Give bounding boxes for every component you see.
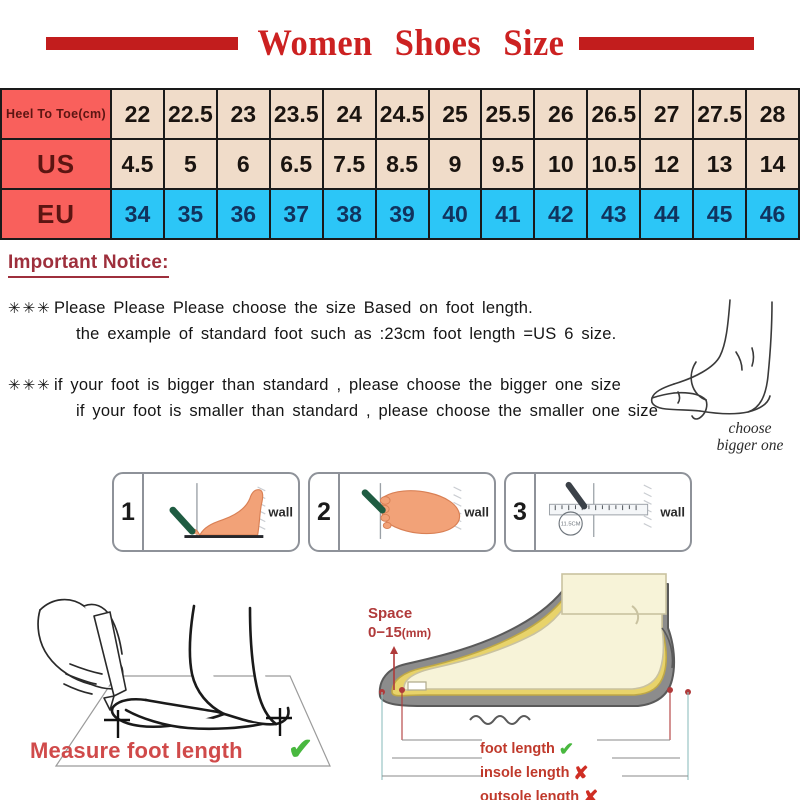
space-annotation: Space 0−15(mm): [368, 604, 431, 642]
cell-cm-5: 24.5: [376, 89, 429, 139]
cell-eu-9: 43: [587, 189, 640, 239]
notice-line-4: ✳✳✳ if your foot is smaller than standar…: [8, 399, 708, 425]
label-insole-length: insole length ✘: [480, 762, 598, 786]
notice-line-4-text: if your foot is smaller than standard , …: [76, 399, 658, 425]
notice-block-2: ✳✳✳ if your foot is bigger than standard…: [8, 373, 708, 424]
page-title-banner: Women Shoes Size: [0, 16, 800, 70]
title-rule-right: [579, 37, 754, 50]
step-2-wall-label: wall: [464, 505, 489, 520]
cell-eu-5: 39: [376, 189, 429, 239]
page-title-word-2: Shoes: [394, 23, 480, 64]
cell-eu-2: 36: [217, 189, 270, 239]
step-3-illustration: 11.5CM wall: [536, 474, 690, 550]
cell-us-5: 8.5: [376, 139, 429, 189]
step-panel-1: 1 wall: [112, 472, 300, 552]
page-title-word-3: Size: [503, 23, 564, 64]
measure-foot-caption: Measure foot length: [30, 738, 243, 764]
label-outsole-length: outsole length ✘: [480, 786, 598, 800]
notice-block-1: ✳✳✳ Please Please Please choose the size…: [8, 296, 708, 347]
cell-cm-4: 24: [323, 89, 376, 139]
step-number-3: 3: [506, 474, 536, 550]
cell-eu-7: 41: [481, 189, 534, 239]
label-foot-length: foot length ✔: [480, 738, 598, 762]
notice-heading: Important Notice:: [8, 252, 169, 278]
cell-us-0: 4.5: [111, 139, 164, 189]
cell-us-3: 6.5: [270, 139, 323, 189]
cell-eu-3: 37: [270, 189, 323, 239]
measurement-steps: 1 wall 2: [112, 472, 692, 552]
cell-eu-10: 44: [640, 189, 693, 239]
space-label-line-1: Space: [368, 604, 431, 623]
cell-eu-4: 38: [323, 189, 376, 239]
cell-us-12: 14: [746, 139, 799, 189]
ruler-badge-text: 11.5CM: [561, 521, 581, 527]
asterisk-bullet-icon-2: ✳✳✳: [8, 373, 54, 397]
title-rule-left: [46, 37, 238, 50]
foot-sketch-caption: choose bigger one: [690, 420, 800, 455]
cell-us-8: 10: [534, 139, 587, 189]
size-table-body: Heel To Toe(cm) 22 22.5 23 23.5 24 24.5 …: [1, 89, 799, 239]
sketch-caption-line-1: choose: [690, 420, 800, 437]
important-notice-section: Important Notice: ✳✳✳ Please Please Plea…: [8, 252, 708, 424]
page-title: Women Shoes Size: [257, 22, 564, 65]
size-chart-page: Women Shoes Size Heel To Toe(cm) 22 22.5…: [0, 0, 800, 800]
asterisk-bullet-icon: ✳✳✳: [8, 296, 54, 320]
shoe-length-labels: foot length ✔ insole length ✘ outsole le…: [480, 738, 598, 800]
cell-us-9: 10.5: [587, 139, 640, 189]
cell-cm-9: 26.5: [587, 89, 640, 139]
notice-line-2-text: the example of standard foot such as :23…: [76, 322, 616, 348]
step-number-2: 2: [310, 474, 340, 550]
outsole-length-cross-icon: ✘: [583, 786, 598, 800]
cell-eu-6: 40: [429, 189, 482, 239]
cell-us-6: 9: [429, 139, 482, 189]
step-3-wall-label: wall: [660, 505, 685, 520]
cell-eu-0: 34: [111, 189, 164, 239]
row-header-eu: EU: [1, 189, 111, 239]
cell-eu-8: 42: [534, 189, 587, 239]
measure-check-icon: ✔: [288, 732, 313, 767]
step-2-illustration: wall: [340, 474, 494, 550]
notice-line-1-text: Please Please Please choose the size Bas…: [54, 296, 533, 322]
step-1-wall-label: wall: [268, 505, 293, 520]
size-conversion-table: Heel To Toe(cm) 22 22.5 23 23.5 24 24.5 …: [0, 88, 800, 240]
foot-length-check-icon: ✔: [559, 738, 574, 762]
notice-line-3: ✳✳✳ if your foot is bigger than standard…: [8, 373, 708, 399]
cell-us-4: 7.5: [323, 139, 376, 189]
cell-eu-1: 35: [164, 189, 217, 239]
table-row-cm: Heel To Toe(cm) 22 22.5 23 23.5 24 24.5 …: [1, 89, 799, 139]
cell-cm-8: 26: [534, 89, 587, 139]
space-label-line-2-wrap: 0−15(mm): [368, 623, 431, 642]
cell-cm-0: 22: [111, 89, 164, 139]
cell-us-10: 12: [640, 139, 693, 189]
cell-us-1: 5: [164, 139, 217, 189]
cell-cm-2: 23: [217, 89, 270, 139]
space-label-line-2: 0−15: [368, 624, 402, 641]
insole-length-cross-icon: ✘: [573, 762, 588, 786]
space-label-unit: (mm): [402, 626, 431, 640]
notice-line-3-text: if your foot is bigger than standard , p…: [54, 373, 621, 399]
cell-cm-10: 27: [640, 89, 693, 139]
table-row-us: US 4.5 5 6 6.5 7.5 8.5 9 9.5 10 10.5 12 …: [1, 139, 799, 189]
cell-eu-11: 45: [693, 189, 746, 239]
page-title-word-1: Women: [257, 23, 372, 64]
step-panel-3: 3: [504, 472, 692, 552]
cell-cm-7: 25.5: [481, 89, 534, 139]
table-row-eu: EU 34 35 36 37 38 39 40 41 42 43 44 45 4…: [1, 189, 799, 239]
cell-cm-3: 23.5: [270, 89, 323, 139]
cell-us-11: 13: [693, 139, 746, 189]
cell-eu-12: 46: [746, 189, 799, 239]
row-header-us: US: [1, 139, 111, 189]
cell-cm-6: 25: [429, 89, 482, 139]
cell-cm-1: 22.5: [164, 89, 217, 139]
cell-us-7: 9.5: [481, 139, 534, 189]
label-insole-length-text: insole length: [480, 764, 569, 783]
step-1-illustration: wall: [144, 474, 298, 550]
cell-cm-12: 28: [746, 89, 799, 139]
step-number-1: 1: [114, 474, 144, 550]
label-outsole-length-text: outsole length: [480, 788, 579, 800]
row-header-heel-to-toe: Heel To Toe(cm): [1, 89, 111, 139]
notice-line-2: ✳✳✳ the example of standard foot such as…: [8, 322, 708, 348]
sketch-caption-line-2: bigger one: [690, 437, 800, 454]
label-foot-length-text: foot length: [480, 740, 555, 759]
cell-cm-11: 27.5: [693, 89, 746, 139]
notice-line-1: ✳✳✳ Please Please Please choose the size…: [8, 296, 708, 322]
step-panel-2: 2: [308, 472, 496, 552]
cell-us-2: 6: [217, 139, 270, 189]
